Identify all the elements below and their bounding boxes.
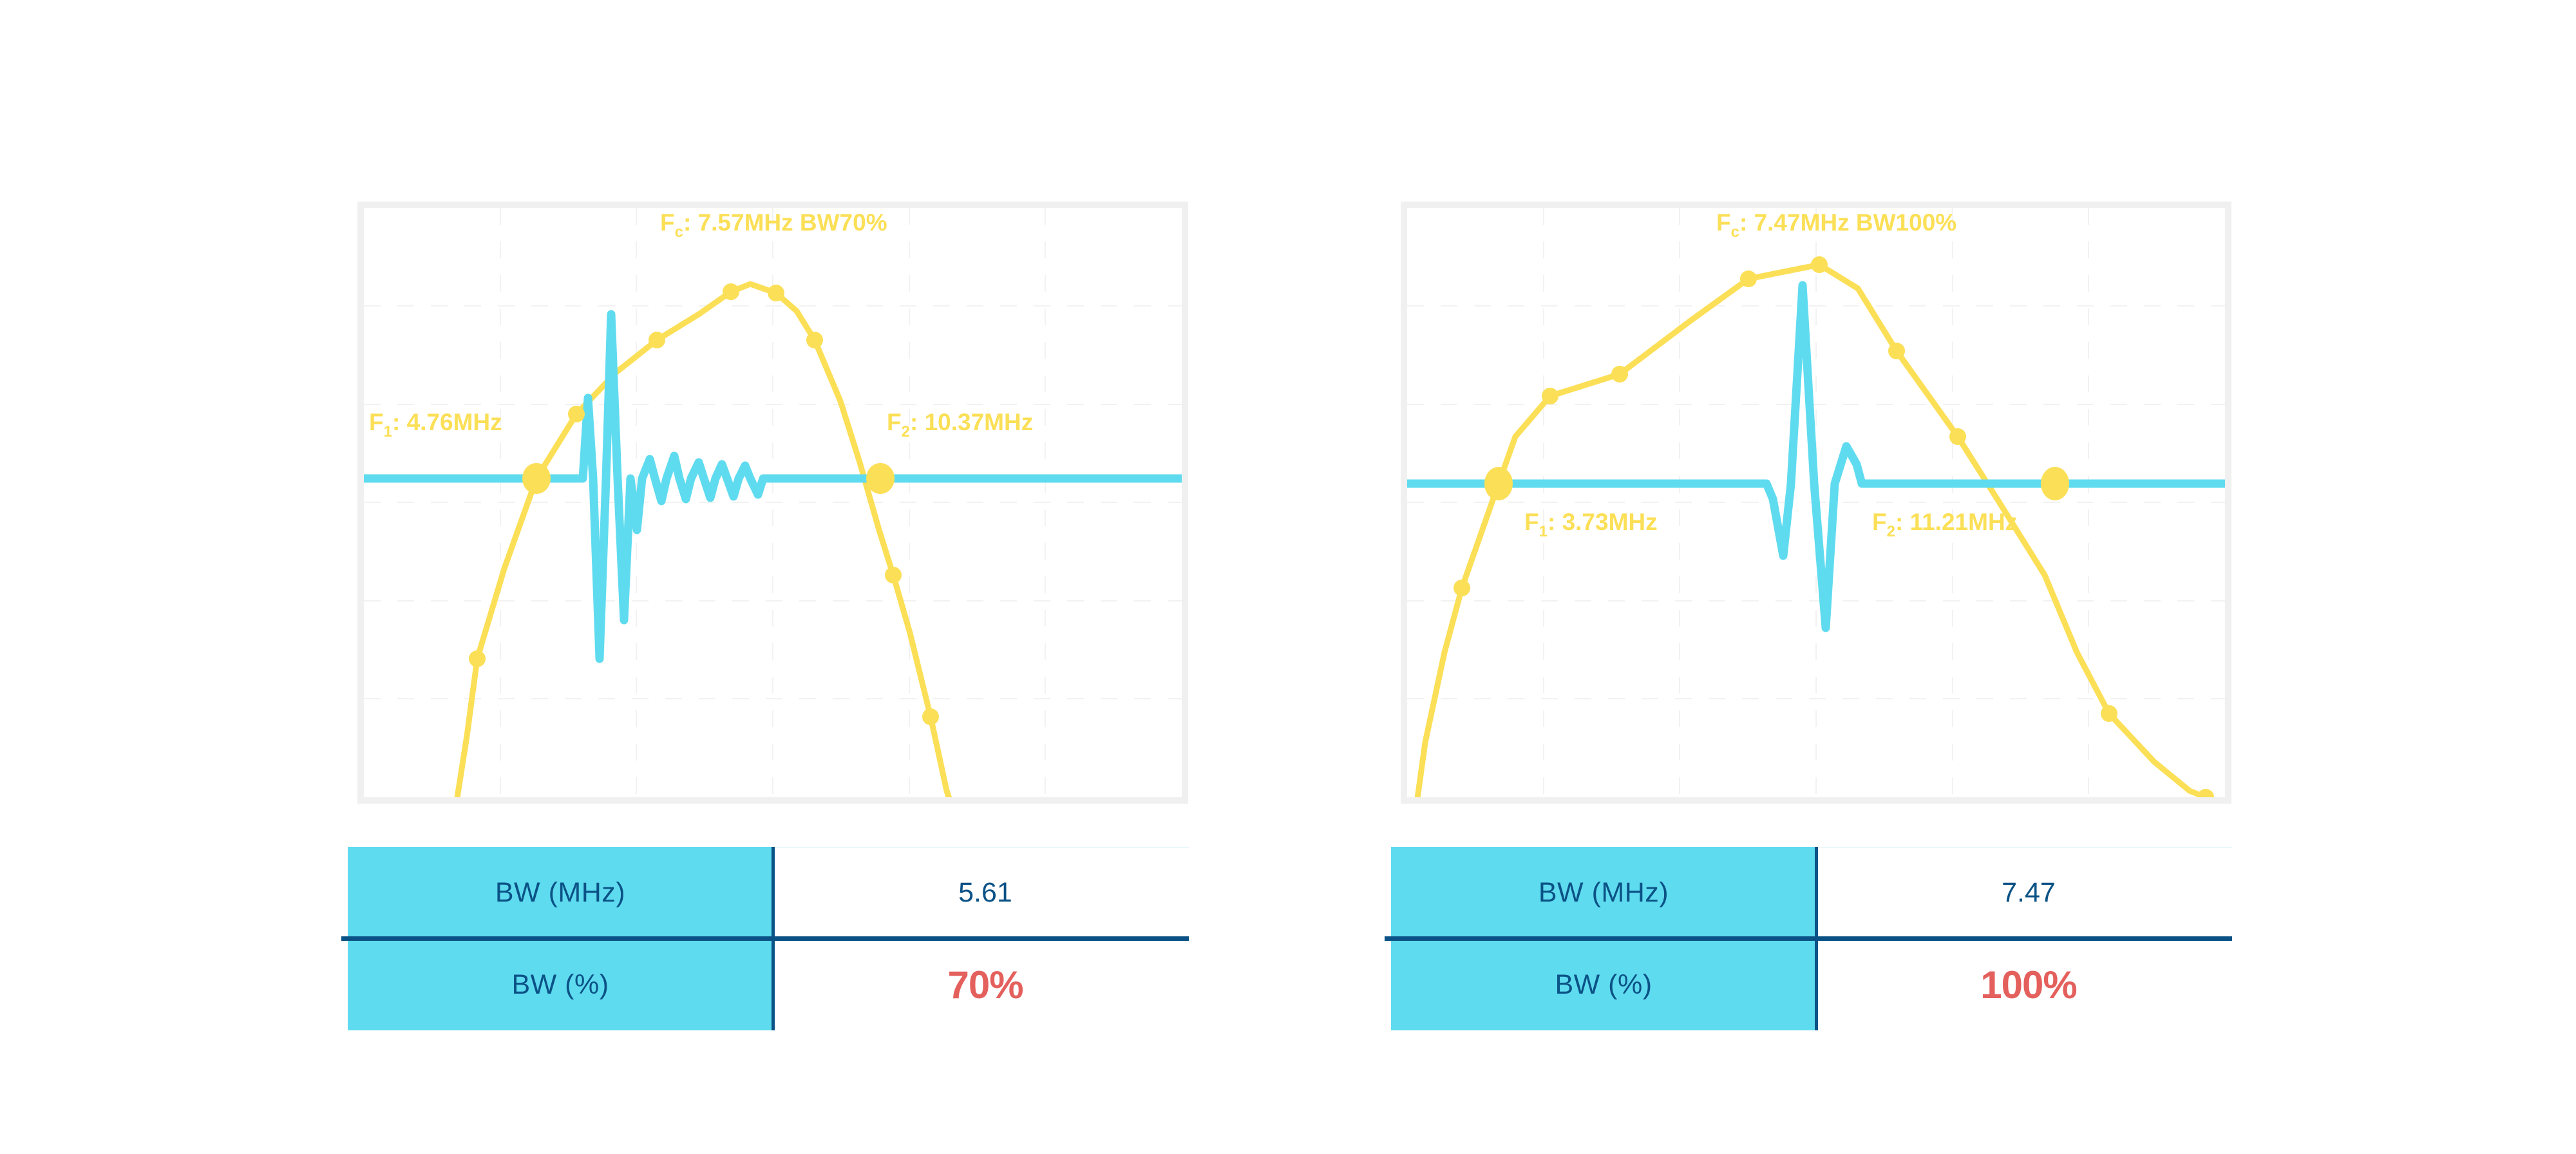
plot-frame-left: Fc: 7.57MHz BW70% F1: 4.76MHz F2: 10.37M…	[357, 202, 1188, 804]
f1-annotation-left: F1: 4.76MHz	[369, 409, 502, 440]
bw-mhz-value: 5.61	[773, 847, 1198, 938]
bw-table-right: BW (MHz) 7.47 BW (%) 100%	[1391, 847, 2241, 1030]
bw-mhz-label: BW (MHz)	[348, 847, 773, 938]
bw-mhz-value: 7.47	[1816, 847, 2241, 938]
bw-percent-value: 70%	[773, 939, 1198, 1030]
f2-annotation-right: F2: 11.21MHz	[1872, 509, 2017, 540]
table-horizontal-divider	[1385, 936, 2232, 941]
bw-table-left: BW (MHz) 5.61 BW (%) 70%	[348, 847, 1198, 1030]
spectrum-chart-right: Fc: 7.47MHz BW100% F1: 3.73MHz F2: 11.21…	[1407, 208, 2225, 797]
spectrum-chart-left: Fc: 7.57MHz BW70% F1: 4.76MHz F2: 10.37M…	[364, 208, 1182, 797]
figure-root: Fc: 7.57MHz BW70% F1: 4.76MHz F2: 10.37M…	[0, 0, 2576, 1154]
fc-annotation-left: Fc: 7.57MHz BW70%	[660, 209, 887, 241]
bw-percent-label: BW (%)	[1391, 939, 1816, 1030]
table-horizontal-divider	[341, 936, 1189, 941]
spectrum-markers-left	[469, 283, 939, 725]
panel-right: Fc: 7.47MHz BW100% F1: 3.73MHz F2: 11.21…	[1294, 0, 2260, 1154]
bw-mhz-label: BW (MHz)	[1391, 847, 1816, 938]
panel-left: Fc: 7.57MHz BW70% F1: 4.76MHz F2: 10.37M…	[251, 0, 1217, 1154]
plot-frame-right: Fc: 7.47MHz BW100% F1: 3.73MHz F2: 11.21…	[1401, 202, 2231, 804]
bw-percent-label: BW (%)	[348, 939, 773, 1030]
bw-percent-value: 100%	[1816, 939, 2241, 1030]
spectrum-curve-left	[453, 284, 963, 797]
fc-annotation-right: Fc: 7.47MHz BW100%	[1716, 209, 1956, 241]
